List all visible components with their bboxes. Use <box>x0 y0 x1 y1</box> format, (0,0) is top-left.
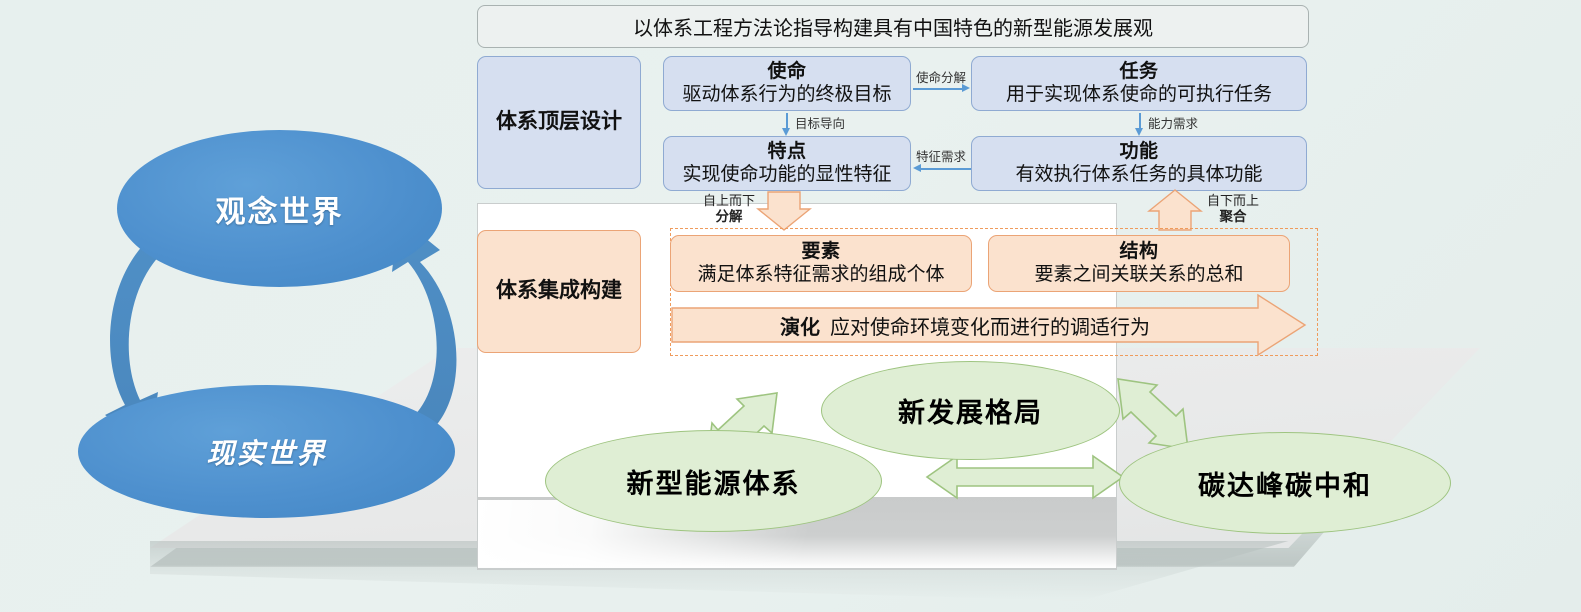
ellipse-new-energy-system: 新型能源体系 <box>545 430 882 532</box>
ellipse-new-pattern: 新发展格局 <box>821 361 1120 460</box>
node-task-title: 任务 <box>1119 61 1158 83</box>
ellipse-new-pattern-label: 新发展格局 <box>898 391 1043 430</box>
flow-arrow-bottom-up-label: 自下而上 聚合 <box>1207 194 1259 224</box>
node-structure-title: 结构 <box>1119 241 1158 263</box>
node-task-desc: 用于实现体系使命的可执行任务 <box>1006 84 1272 106</box>
connector-mission-to-task-line <box>913 88 963 90</box>
ellipse-conceptual-world: 观念世界 <box>117 130 442 287</box>
node-structure-desc: 要素之间关联关系的总和 <box>1034 264 1243 286</box>
node-function-title: 功能 <box>1119 141 1158 163</box>
layer-label-integration: 体系集成构建 <box>477 230 641 353</box>
flow-arrow-top-down-label: 自上而下 分解 <box>703 194 755 224</box>
node-feature: 特点 实现使命功能的显性特征 <box>663 136 911 191</box>
node-element: 要素 满足体系特征需求的组成个体 <box>670 235 972 292</box>
ellipse-new-energy-system-label: 新型能源体系 <box>627 462 801 501</box>
layer-label-top-design: 体系顶层设计 <box>477 56 641 189</box>
node-evolution-title: 演化 <box>780 311 820 340</box>
ellipse-real-world: 现实世界 <box>78 385 455 518</box>
node-function-desc: 有效执行体系任务的具体功能 <box>1015 164 1262 186</box>
node-mission-desc: 驱动体系行为的终极目标 <box>682 84 891 106</box>
connector-function-to-feature-arrowhead <box>913 164 921 172</box>
connector-mission-to-task-label: 使命分解 <box>916 67 966 86</box>
flow-arrow-top-down-line1: 自上而下 <box>703 193 755 208</box>
node-evolution-desc: 应对使命环境变化而进行的调适行为 <box>830 311 1150 340</box>
node-element-desc: 满足体系特征需求的组成个体 <box>697 264 944 286</box>
ellipse-conceptual-world-label: 观念世界 <box>216 187 344 231</box>
layer-label-integration-text: 体系集成构建 <box>496 279 622 304</box>
connector-task-to-function-arrowhead <box>1135 128 1143 136</box>
node-element-title: 要素 <box>801 241 840 263</box>
connector-function-to-feature-label: 特征需求 <box>916 146 966 165</box>
node-structure: 结构 要素之间关联关系的总和 <box>988 235 1290 292</box>
node-function: 功能 有效执行体系任务的具体功能 <box>971 136 1307 191</box>
layer-label-top-design-text: 体系顶层设计 <box>496 110 622 135</box>
node-evolution: 演化 应对使命环境变化而进行的调适行为 <box>672 308 1258 342</box>
diagram-canvas: 以体系工程方法论指导构建具有中国特色的新型能源发展观 观念世界 现实世界 体系顶… <box>0 0 1581 612</box>
flow-arrow-top-down-line2: 分解 <box>703 209 755 225</box>
node-task: 任务 用于实现体系使命的可执行任务 <box>971 56 1307 111</box>
connector-task-to-function-label: 能力需求 <box>1148 113 1198 132</box>
ellipse-carbon-peak-neutral-label: 碳达峰碳中和 <box>1198 464 1372 503</box>
node-mission: 使命 驱动体系行为的终极目标 <box>663 56 911 111</box>
page-title: 以体系工程方法论指导构建具有中国特色的新型能源发展观 <box>477 5 1309 48</box>
flow-arrow-bottom-up-line2: 聚合 <box>1207 209 1259 225</box>
node-feature-title: 特点 <box>767 141 806 163</box>
ellipse-carbon-peak-neutral: 碳达峰碳中和 <box>1119 432 1451 534</box>
ellipse-real-world-label: 现实世界 <box>206 432 326 472</box>
connector-mission-to-feature-label: 目标导向 <box>795 113 845 132</box>
flow-arrow-bottom-up-line1: 自下而上 <box>1207 193 1259 208</box>
node-mission-title: 使命 <box>767 61 806 83</box>
node-feature-desc: 实现使命功能的显性特征 <box>682 164 891 186</box>
connector-mission-to-feature-arrowhead <box>782 128 790 136</box>
connector-function-to-feature-line <box>921 168 971 170</box>
